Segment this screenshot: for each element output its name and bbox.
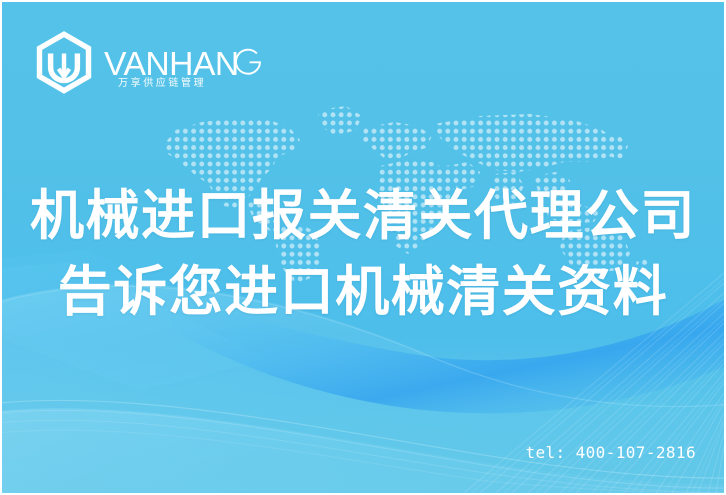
headline-line-2: 告诉您进口机械清关资料 (2, 254, 724, 330)
wordmark: VANHAN 万享供应链管理 (104, 47, 236, 80)
contact-phone: tel: 400-107-2816 (525, 443, 696, 462)
wordmark-g-icon (231, 45, 265, 79)
marketing-banner: VANHAN 万享供应链管理 机械进口报关清关代理公司 告诉您进口机械清关资料 … (0, 0, 726, 495)
logo-typography: VANHAN 万享供应链管理 (104, 33, 236, 93)
wordmark-letters: VANHAN (104, 47, 239, 80)
headline-block: 机械进口报关清关代理公司 告诉您进口机械清关资料 (2, 178, 724, 330)
hexagon-u-logo-icon (32, 31, 96, 95)
headline-line-1: 机械进口报关清关代理公司 (2, 178, 724, 254)
logo-chinese-subtitle: 万享供应链管理 (118, 79, 206, 89)
brand-logo[interactable]: VANHAN 万享供应链管理 (32, 30, 236, 96)
